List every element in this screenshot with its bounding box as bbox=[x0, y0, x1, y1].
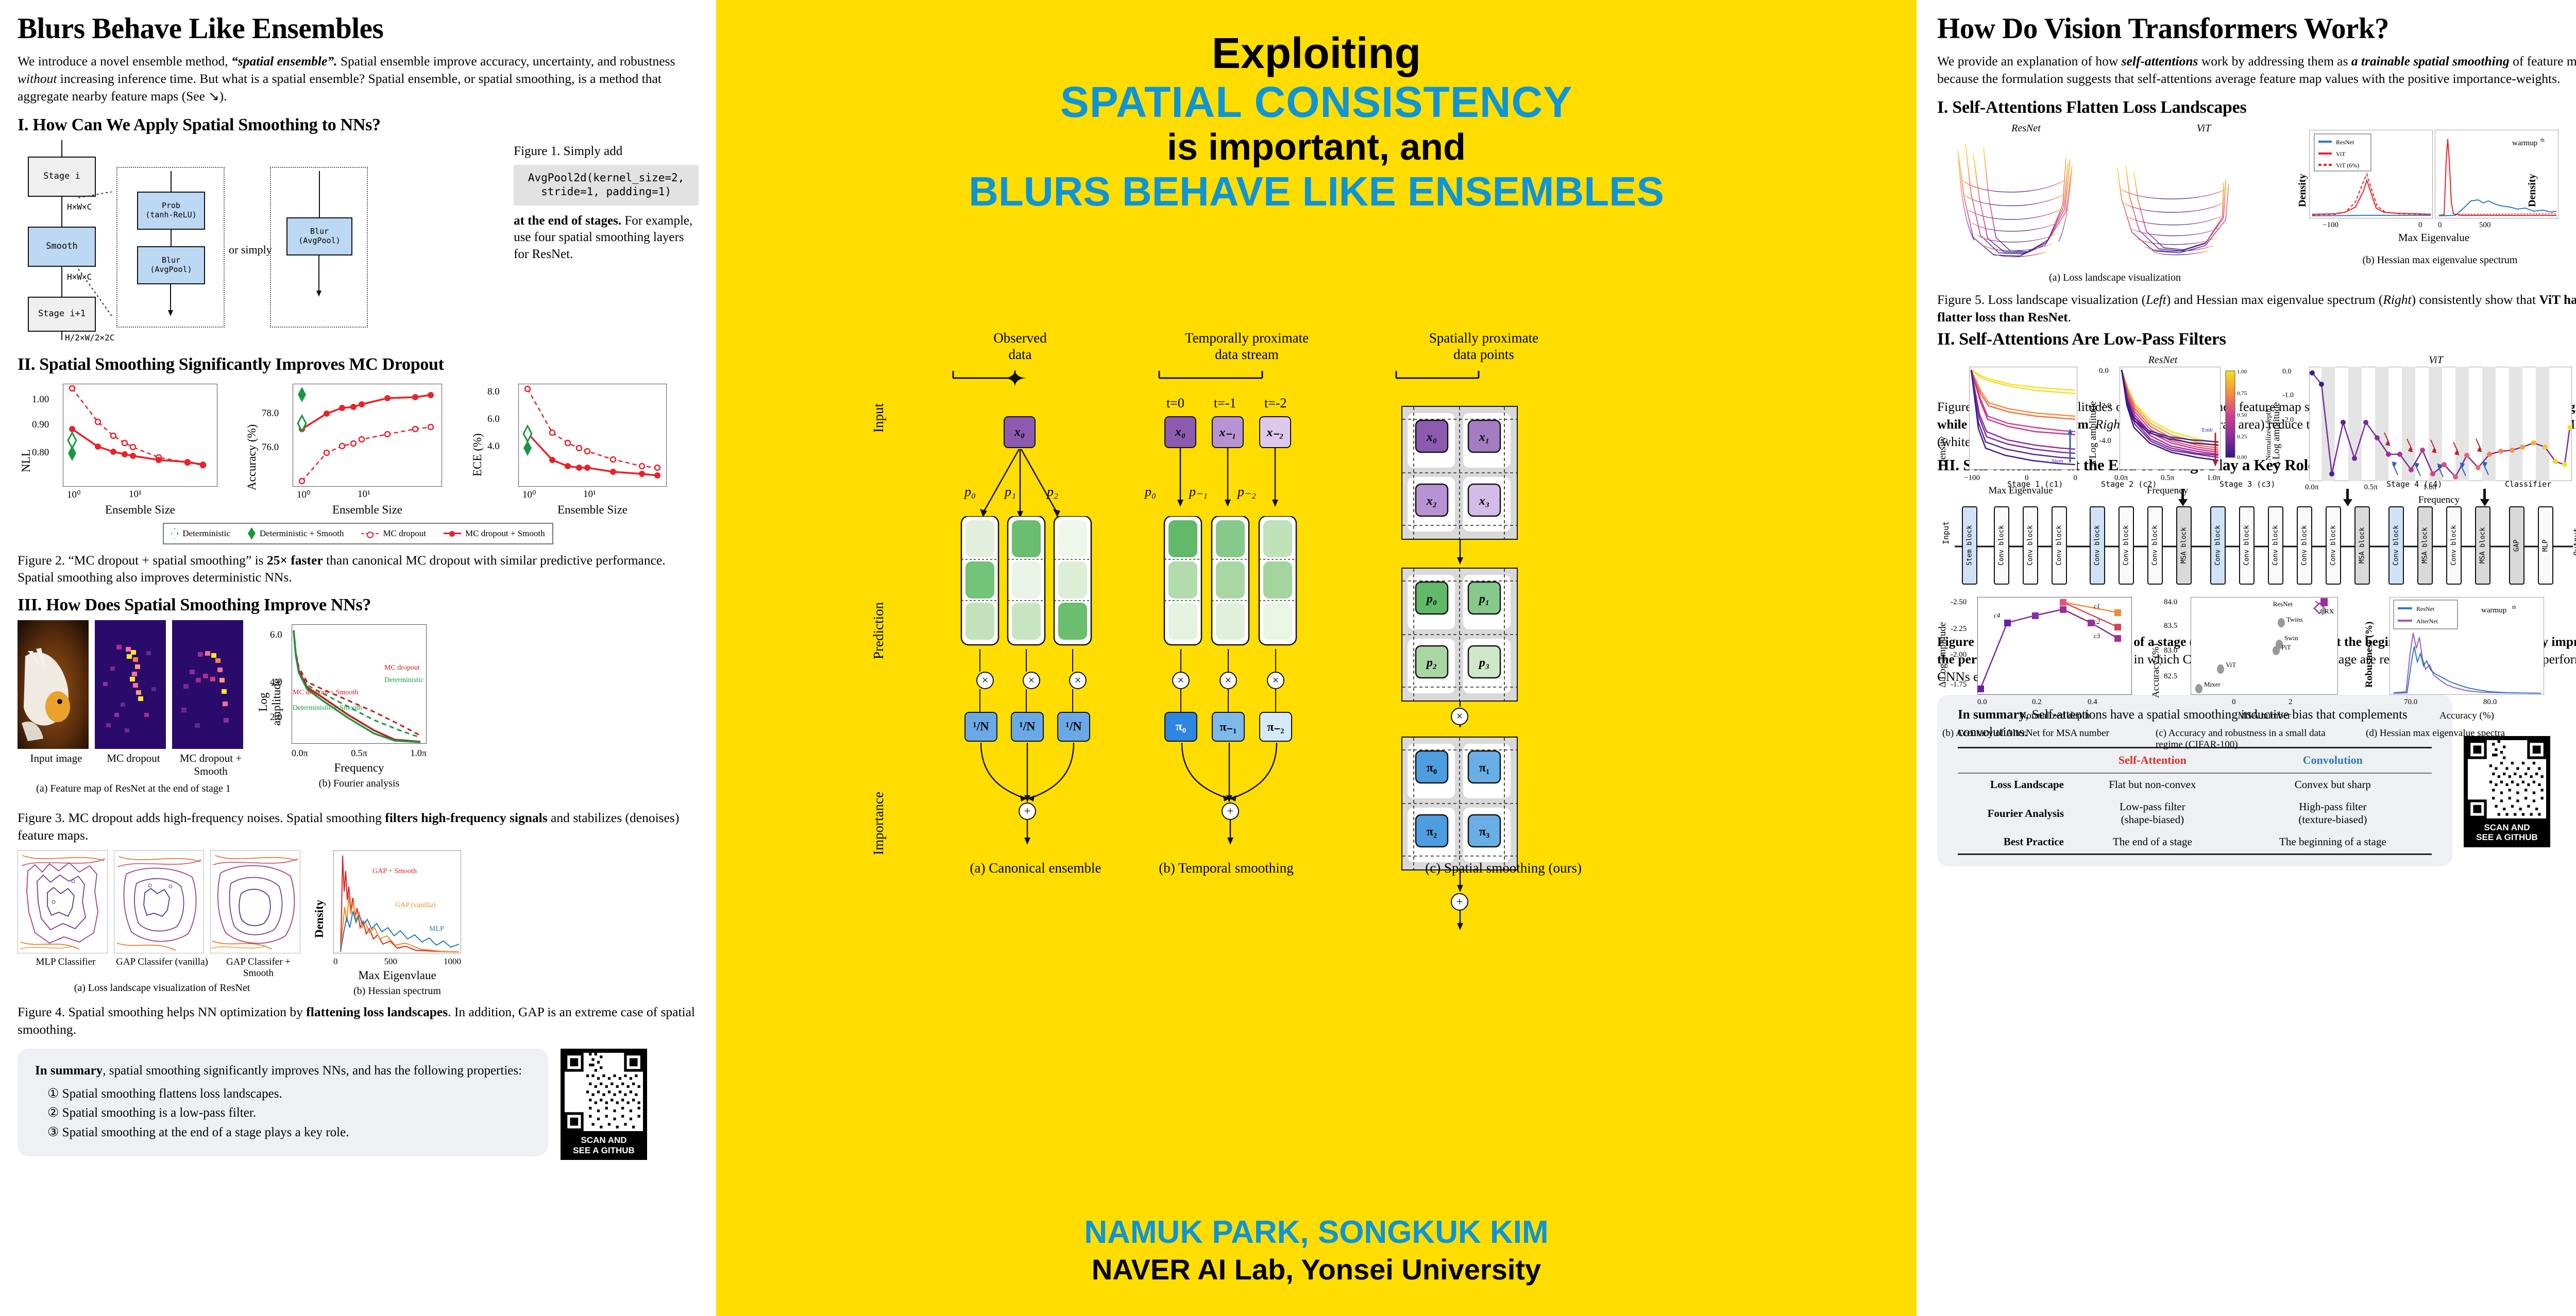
sum-arrows-b bbox=[1162, 741, 1317, 823]
arch-block-conv: Conv block bbox=[2239, 506, 2255, 585]
qr-caption-left: SCAN AND SEE A GITHUB bbox=[565, 1134, 643, 1158]
chart-fourier-ytick-2: 6.0 bbox=[270, 629, 282, 641]
node-prob: Prob(tanh-ReLU) bbox=[137, 192, 205, 230]
fig7d-ylabel: Robustness (%) bbox=[2364, 622, 2375, 688]
chart-nll-ylabel: NLL bbox=[20, 449, 33, 472]
right-intro-em1: self-attentions bbox=[2122, 54, 2198, 69]
fourier-xtick-1: 0.5π bbox=[351, 748, 367, 759]
fig7c-xlabel: MSA number bbox=[2191, 710, 2338, 722]
table-row: Best Practice The end of a stage The beg… bbox=[1958, 831, 2432, 854]
fig5-ylabel-left: Density bbox=[2297, 174, 2309, 207]
svg-text:x₂: x₂ bbox=[1426, 494, 1437, 508]
architecture-diagram: Stage 1 (c1) Stage 2 (c2) Stage 3 (c3) S… bbox=[1937, 480, 2576, 598]
title-line-2: SPATIAL CONSISTENCY bbox=[716, 78, 1917, 127]
importance-a1: ¹/N bbox=[1011, 712, 1044, 742]
chart-hessian-canvas: GAP + Smooth GAP (vanilla) MLP bbox=[333, 850, 461, 953]
spatial-grid-prediction: p₀p₁ p₂p₃ bbox=[1401, 568, 1518, 702]
left-summary-box: In summary, spatial smoothing significan… bbox=[18, 1049, 548, 1156]
poster-main-title: Exploiting SPATIAL CONSISTENCY is import… bbox=[716, 0, 1917, 215]
figure-5-caption-a: (a) Loss landscape visualization bbox=[1937, 272, 2293, 284]
arch-down-arrows bbox=[1937, 489, 2555, 507]
svg-text:p₂: p₂ bbox=[1426, 656, 1437, 670]
arch-block-msa: MSA block bbox=[2176, 506, 2192, 585]
chart-acc-xtick-0: 10⁰ bbox=[297, 489, 311, 501]
figure-3-subcaptions: Input image MC dropout MC dropout + Smoo… bbox=[18, 752, 249, 778]
svg-text:warmup: warmup bbox=[2512, 139, 2537, 147]
chart-hessian-xlabel: Max Eigenvlaue bbox=[333, 969, 461, 982]
importance-bm1: π₋₁ bbox=[1212, 712, 1245, 742]
chart-ece-ytick-2: 8.0 bbox=[487, 386, 500, 398]
expand-lines bbox=[78, 192, 114, 320]
fig5-xticks: −100 0 0 500 bbox=[2309, 221, 2558, 231]
chart-fig6-depth: ViT Δ Log amplitude 0.0 -1.0 -2.0 bbox=[2271, 354, 2576, 366]
table-cell-2-2: The beginning of a stage bbox=[2234, 831, 2432, 854]
output-arrow-a bbox=[1020, 820, 1036, 851]
arch-block-conv: Conv block bbox=[2297, 506, 2312, 585]
fig7b-xt2: 0.4 bbox=[2088, 698, 2097, 707]
arch-block-gap: GAP bbox=[2509, 506, 2524, 585]
svg-text:π₁: π₁ bbox=[1479, 761, 1489, 775]
left-panel-title: Blurs Behave Like Ensembles bbox=[18, 13, 699, 44]
chart-ece-canvas bbox=[518, 384, 667, 487]
table-row-label-1: Fourier Analysis bbox=[1958, 796, 2071, 831]
chart-ece-xtick-0: 10⁰ bbox=[522, 489, 536, 501]
comparison-table: Self-Attention Convolution Loss Landscap… bbox=[1958, 747, 2432, 854]
row-label-input: Input bbox=[871, 403, 887, 433]
list-item: ② Spatial smoothing is a low-pass filter… bbox=[47, 1104, 531, 1122]
left-section-3-heading: III. How Does Spatial Smoothing Improve … bbox=[18, 595, 699, 615]
author-affiliation: NAVER AI Lab, Yonsei University bbox=[716, 1252, 1917, 1287]
diagram-caption-c: (c) Spatial smoothing (ours) bbox=[1345, 860, 1582, 876]
fig5-right-canvas: warmup th bbox=[2435, 130, 2558, 218]
fig7d-xlabel: Accuracy (%) bbox=[2389, 710, 2544, 722]
chart-fig6-vit: ResNet Δ Log amplitude 0.0 -2.0 -4.0 bbox=[2088, 354, 2268, 366]
figure-4-caption: Figure 4. Spatial smoothing helps NN opt… bbox=[18, 1003, 699, 1038]
fig3-subcap-2: MC dropout + Smooth bbox=[172, 752, 249, 778]
table-header-convolution: Convolution bbox=[2234, 748, 2432, 773]
loss-landscape-surfaces bbox=[1937, 134, 2293, 268]
feature-map-mc-dropout-smooth bbox=[172, 620, 243, 749]
table-header-self-attention: Self-Attention bbox=[2071, 748, 2234, 773]
plus-symbol-c: + bbox=[1451, 893, 1468, 911]
arch-block-stem: Stem block bbox=[1962, 506, 1977, 585]
col-head-spatial: Spatially proximate data points bbox=[1381, 330, 1587, 363]
figure-7-caption-d: (d) Hessian max eigenvalue spectra bbox=[2366, 728, 2569, 739]
svg-text:AlterNet: AlterNet bbox=[2416, 618, 2438, 625]
chart-fourier-xticks: 0.0π 0.5π 1.0π bbox=[292, 748, 427, 759]
svg-text:warmup: warmup bbox=[2481, 606, 2506, 614]
svg-text:Twins: Twins bbox=[2286, 616, 2303, 623]
right-section-2-heading: II. Self-Attentions Are Low-Pass Filters bbox=[1937, 330, 2576, 349]
fig7d-xt1: 80.0 bbox=[2483, 698, 2497, 707]
qr-line-1: SCAN AND bbox=[565, 1135, 643, 1146]
svg-text:ViT: ViT bbox=[2336, 150, 2346, 158]
figure-4: MLP Classifier GAP Classifer (vanilla) G… bbox=[18, 850, 699, 994]
fig6-resnet-canvas: Stem bbox=[1969, 367, 2077, 470]
chart-acc-xtick-1: 10¹ bbox=[358, 489, 370, 500]
spatial-grid-importance-svg: π₀π₁ π₂π₃ bbox=[1402, 738, 1517, 869]
weight-p1-a: p₁ bbox=[1005, 484, 1016, 500]
figure-2-plots: NLL 0.80 0.90 1.00 bbox=[18, 380, 699, 519]
qr-code-block-left[interactable]: SCAN AND SEE A GITHUB bbox=[561, 1049, 647, 1160]
arch-block-conv: Conv block bbox=[2119, 506, 2134, 585]
arch-block-conv: Conv block bbox=[2023, 506, 2038, 585]
weight-p0-a: p₀ bbox=[964, 484, 976, 500]
solid-line-icon bbox=[444, 533, 461, 534]
left-column: Blurs Behave Like Ensembles We introduce… bbox=[0, 0, 716, 1316]
figure-4-subcaptions: MLP Classifier GAP Classifer (vanilla) G… bbox=[18, 956, 307, 979]
fourier-xtick-2: 1.0π bbox=[410, 748, 427, 759]
fourier-xtick-0: 0.0π bbox=[292, 748, 308, 759]
svg-text:Emb: Emb bbox=[2202, 427, 2213, 433]
svg-text:ResNet: ResNet bbox=[2416, 605, 2435, 612]
arrow-down-2 bbox=[314, 255, 325, 302]
table-cell-2-1: The end of a stage bbox=[2071, 831, 2234, 854]
svg-text:PiT: PiT bbox=[2281, 643, 2291, 651]
svg-text:RX: RX bbox=[2325, 607, 2334, 615]
chart-fourier-ytick-1: 4.0 bbox=[270, 677, 282, 688]
center-column: Exploiting SPATIAL CONSISTENCY is import… bbox=[716, 0, 1917, 1316]
plus-symbol-a: + bbox=[1019, 802, 1036, 820]
chart-fourier-ytick-0: 2.0 bbox=[270, 712, 282, 723]
figure-3-caption-a: (a) Feature map of ResNet at the end of … bbox=[18, 783, 249, 795]
title-line-1: Exploiting bbox=[716, 29, 1917, 78]
chart-acc-ytick-1: 78.0 bbox=[262, 408, 279, 419]
fig5-xlabel: Max Eigenvalue bbox=[2309, 231, 2558, 244]
svg-text:Alter-ResNet: Alter-ResNet bbox=[2240, 597, 2275, 599]
hess-xtick-0: 0 bbox=[333, 956, 338, 967]
author-names: NAMUK PARK, SONGKUK KIM bbox=[716, 1213, 1917, 1252]
fig5-left-canvas: ResNet ViT ViT (6%) bbox=[2309, 130, 2433, 218]
left-section-2-heading: II. Spatial Smoothing Significantly Impr… bbox=[18, 355, 699, 374]
fig6-title-depth: ViT bbox=[2292, 354, 2576, 366]
diagram-caption-b: (b) Temporal smoothing bbox=[1139, 860, 1314, 876]
arch-block-msa: MSA block bbox=[2417, 506, 2433, 585]
node-blur-2: Blur(AvgPool) bbox=[286, 217, 352, 255]
right-intro-2: work by addressing them as bbox=[2198, 54, 2351, 69]
author-block: NAMUK PARK, SONGKUK KIM NAVER AI Lab, Yo… bbox=[716, 1213, 1917, 1287]
svg-text:0.50: 0.50 bbox=[2237, 412, 2247, 418]
left-summary-rest: , spatial smoothing significantly improv… bbox=[103, 1064, 522, 1078]
table-header-row: Self-Attention Convolution bbox=[1958, 748, 2432, 773]
right-intro-em2: a trainable spatial smoothing bbox=[2351, 54, 2510, 69]
diamond-open-icon bbox=[171, 528, 178, 539]
table-cell-1-2: High-pass filter (texture-biased) bbox=[2234, 796, 2432, 831]
chart-acc-ylabel: Accuracy (%) bbox=[245, 424, 259, 490]
table-row-label-2: Best Practice bbox=[1958, 831, 2071, 854]
figure-5-caption: Figure 5. Loss landscape visualization (… bbox=[1937, 291, 2576, 326]
figure-7-caption-b: (b) Accuracy of AlterNet for MSA number bbox=[1942, 728, 2138, 739]
or-simply-label: or simply bbox=[229, 243, 272, 257]
input-x0-b: x₀ bbox=[1164, 416, 1196, 448]
stage-label-3: Stage 3 (c3) bbox=[2219, 480, 2275, 489]
fig7b-xt1: 0.2 bbox=[2032, 698, 2042, 707]
weight-pm2-b: p₋₂ bbox=[1238, 484, 1256, 500]
figure-1-tail: at the end of stages. For example, use f… bbox=[514, 213, 699, 263]
right-column: How Do Vision Transformers Work? We prov… bbox=[1917, 0, 2576, 1316]
left-summary-bold: In summary bbox=[35, 1064, 103, 1078]
hess-xtick-2: 1000 bbox=[444, 956, 461, 967]
arrow-c-1 bbox=[1453, 540, 1468, 571]
svg-text:π₂: π₂ bbox=[1427, 825, 1437, 839]
svg-text:MC dropout + Smooth: MC dropout + Smooth bbox=[293, 689, 358, 696]
title-line-3: is important, and bbox=[716, 127, 1917, 168]
time-t0: t=0 bbox=[1166, 396, 1184, 411]
arch-input-label: Input bbox=[1941, 521, 1951, 544]
fig7b-yt0: -1.75 bbox=[1951, 680, 1967, 689]
loss-landscape-panels: MLP Classifier GAP Classifer (vanilla) G… bbox=[18, 850, 307, 994]
fig6d-ytick1: -1.0 bbox=[2282, 391, 2294, 400]
left-section-1-heading: I. How Can We Apply Spatial Smoothing to… bbox=[18, 115, 699, 135]
importance-a2: ¹/N bbox=[1057, 712, 1090, 742]
figure-1-text: Figure 1. Simply add AvgPool2d(kernel_si… bbox=[514, 140, 699, 263]
node-stage-i: Stage i bbox=[28, 157, 96, 197]
code-line-1: AvgPool2d(kernel_size=2, bbox=[519, 171, 693, 185]
arrow-down-1 bbox=[166, 284, 176, 320]
legend-label-3: MC dropout + Smooth bbox=[465, 528, 545, 539]
legend-label-2: MC dropout bbox=[383, 528, 426, 539]
weight-pm1-b: p₋₁ bbox=[1189, 484, 1208, 500]
chart-ece-ylabel: ECE (%) bbox=[471, 433, 484, 476]
table-row-label-0: Loss Landscape bbox=[1958, 773, 2071, 796]
svg-text:π₃: π₃ bbox=[1479, 825, 1489, 839]
node-blur-1: Blur(AvgPool) bbox=[137, 246, 205, 284]
fig6v-ytick0: 0.0 bbox=[2099, 367, 2109, 375]
fig7b-canvas: c1c2c3c4 bbox=[1977, 597, 2132, 695]
braces bbox=[922, 367, 1643, 392]
arch-output-label: Output bbox=[2572, 528, 2576, 556]
left-intro-3: increasing inference time. But what is a… bbox=[18, 71, 662, 104]
chart-nll-ytick-2: 1.00 bbox=[32, 394, 49, 405]
fig7c-xt1: 2 bbox=[2289, 698, 2293, 707]
prediction-bars-b bbox=[1162, 516, 1317, 650]
chart-nll: NLL 0.80 0.90 1.00 bbox=[18, 380, 238, 519]
figure-7-caption-c: (c) Accuracy and robustness in a small d… bbox=[2156, 728, 2351, 750]
fig6v-ytick1: -2.0 bbox=[2099, 402, 2111, 411]
svg-text:th: th bbox=[2540, 138, 2545, 143]
arch-block-msa: MSA block bbox=[2475, 506, 2490, 585]
plus-symbol-b: + bbox=[1222, 802, 1239, 820]
arrows-b bbox=[1164, 448, 1319, 515]
fig7b-xlabel: Normalized depth bbox=[1977, 710, 2132, 722]
arch-block-conv: Conv block bbox=[2147, 506, 2163, 585]
svg-text:th: th bbox=[2512, 605, 2516, 610]
qr-caption-right: SCAN AND SEE A GITHUB bbox=[2468, 821, 2546, 845]
svg-text:MLP: MLP bbox=[429, 925, 444, 933]
qr-code-icon[interactable] bbox=[2468, 740, 2546, 818]
legend-item-deterministic: Deterministic bbox=[171, 528, 230, 539]
svg-text:Swin: Swin bbox=[2284, 634, 2298, 642]
chart-ece-xlabel: Ensemble Size bbox=[518, 503, 667, 517]
left-intro-emph2: without bbox=[18, 71, 57, 86]
qr-code-icon[interactable] bbox=[565, 1053, 643, 1131]
poster-root: Blurs Behave Like Ensembles We introduce… bbox=[0, 0, 2576, 1316]
legend-label-1: Deterministic + Smooth bbox=[260, 528, 344, 539]
input-image bbox=[18, 620, 89, 749]
stage-label-4: Stage 4 (c4) bbox=[2386, 480, 2442, 489]
col-head-temporal: Temporally proximate data stream bbox=[1133, 330, 1360, 363]
chart-ece-xtick-1: 10¹ bbox=[583, 489, 596, 500]
legend-label-0: Deterministic bbox=[182, 528, 230, 539]
arch-block-conv: Conv block bbox=[2446, 506, 2462, 585]
figure-3-caption: Figure 3. MC dropout adds high-frequency… bbox=[18, 809, 699, 844]
fig5-label-resnet: ResNet bbox=[1937, 123, 2115, 134]
left-intro-emph: “spatial ensemble”. bbox=[231, 54, 337, 69]
fig7b-yt1: -2.00 bbox=[1951, 651, 1967, 659]
svg-text:c1: c1 bbox=[2094, 602, 2100, 610]
fig7c-yt1: 83.0 bbox=[2164, 646, 2177, 655]
svg-text:c2: c2 bbox=[2094, 618, 2100, 625]
qr-line-1: SCAN AND bbox=[2468, 823, 2546, 833]
legend-item-deterministic-smooth: Deterministic + Smooth bbox=[248, 527, 344, 540]
stage-label-2: Stage 2 (c2) bbox=[2101, 480, 2157, 489]
chart-nll-xtick-1: 10¹ bbox=[129, 489, 142, 500]
chart-fig5-hessian: Density ResNet ViT ViT (6%) bbox=[2296, 123, 2576, 266]
left-intro-paragraph: We introduce a novel ensemble method, “s… bbox=[18, 53, 699, 105]
svg-text:0.75: 0.75 bbox=[2237, 390, 2247, 397]
fig7c-xt0: 0 bbox=[2232, 698, 2236, 707]
table-row: Loss Landscape Flat but non-convex Conve… bbox=[1958, 773, 2432, 796]
input-x0-a: x₀ bbox=[1004, 416, 1036, 448]
fig7c-canvas: Alter-ResNet ResNet RX Twins Swin PiT Vi… bbox=[2191, 597, 2338, 695]
svg-text:0.00: 0.00 bbox=[2237, 454, 2247, 460]
figure-1-head: Figure 1. Simply add bbox=[514, 143, 699, 160]
qr-code-block-right[interactable]: SCAN AND SEE A GITHUB bbox=[2464, 736, 2550, 847]
fig3-subcap-1: MC dropout bbox=[95, 752, 172, 778]
svg-text:0.25: 0.25 bbox=[2237, 434, 2247, 440]
fig3-subcap-0: Input image bbox=[18, 752, 95, 778]
output-arrow-c bbox=[1453, 911, 1468, 934]
svg-text:GAP (vanilla): GAP (vanilla) bbox=[395, 901, 436, 909]
svg-text:c3: c3 bbox=[2094, 632, 2100, 640]
loss-landscape-gap-smooth bbox=[210, 850, 300, 953]
figure-6: Density bbox=[1937, 354, 2576, 366]
arch-block-conv: Conv block bbox=[1994, 506, 2009, 585]
chart-ece-ytick-0: 4.0 bbox=[487, 441, 500, 452]
fig7b-ylabel: Δ Log amplitude bbox=[1937, 622, 1948, 688]
svg-text:ResNet: ResNet bbox=[2273, 600, 2293, 608]
figure-4-caption-b: (b) Hessian spectrum bbox=[333, 985, 461, 997]
time-tm2: t=-2 bbox=[1264, 396, 1287, 411]
fig7d-canvas: ResNet AlterNet warmup th bbox=[2389, 597, 2544, 695]
loss-landscape-3d: ResNet ViT bbox=[1937, 123, 2293, 284]
fig6d-ytick2: -2.0 bbox=[2282, 416, 2294, 424]
fig7c-yt2: 83.5 bbox=[2164, 622, 2177, 630]
fig7b-xt0: 0.0 bbox=[1977, 698, 1987, 707]
fig6d-ytick0: 0.0 bbox=[2282, 368, 2292, 376]
chart-ece: ECE (%) 4.0 6.0 8.0 bbox=[469, 380, 689, 519]
table-cell-0-1: Flat but non-convex bbox=[2071, 773, 2234, 796]
fig7c-ylabel: Accuracy (%) bbox=[2150, 643, 2162, 698]
chart-acc-ytick-0: 76.0 bbox=[262, 442, 279, 453]
arch-block-conv: Conv block bbox=[2090, 506, 2105, 585]
spatial-grid-input: x₀x₁ x₂x₃ bbox=[1401, 406, 1518, 540]
fig4-subcap-0: MLP Classifier bbox=[18, 956, 114, 979]
right-intro-1: We provide an explanation of how bbox=[1937, 54, 2122, 69]
fig6-vit-canvas: Emb bbox=[2120, 367, 2221, 470]
feature-map-mc-dropout bbox=[95, 620, 166, 749]
chart-acc-xlabel: Ensemble Size bbox=[293, 503, 442, 517]
fig6-title-vit: ResNet bbox=[2058, 354, 2268, 366]
ensemble-diagram: Input Prediction Importance Observed dat… bbox=[716, 330, 1917, 1010]
input-xm2-b: x₋₂ bbox=[1259, 416, 1291, 448]
figure-1: Stage i H×W×C Smooth H×W×C Stage i+1 H/2… bbox=[18, 140, 699, 344]
table-header-0 bbox=[1958, 748, 2071, 773]
chart-accuracy: Accuracy (%) 76.0 78.0 bbox=[243, 380, 464, 519]
list-item: ① Spatial smoothing flattens loss landsc… bbox=[47, 1085, 531, 1103]
fig6-ylabel-resnet: Density bbox=[1937, 436, 1948, 467]
chart-nll-ytick-1: 0.90 bbox=[32, 419, 49, 431]
svg-text:p₀: p₀ bbox=[1426, 592, 1437, 606]
arch-block-conv: Conv block bbox=[2388, 506, 2404, 585]
right-intro-paragraph: We provide an explanation of how self-at… bbox=[1937, 53, 2576, 88]
dim-label-3: H/2×W/2×2C bbox=[65, 333, 114, 343]
svg-text:Deterministic: Deterministic bbox=[384, 676, 423, 684]
chart-fourier-canvas: MC dropout Deterministic MC dropout + Sm… bbox=[292, 624, 427, 744]
svg-text:Stem: Stem bbox=[2052, 458, 2063, 464]
arch-block-conv: Conv block bbox=[2326, 506, 2341, 585]
svg-text:π₀: π₀ bbox=[1427, 761, 1437, 775]
table-cell-0-2: Convex but sharp bbox=[2234, 773, 2432, 796]
arch-block-conv: Conv block bbox=[2210, 506, 2226, 585]
legend-item-mc-dropout-smooth: MC dropout + Smooth bbox=[444, 528, 545, 539]
qr-line-2: SEE A GITHUB bbox=[565, 1146, 643, 1156]
title-line-4: BLURS BEHAVE LIKE ENSEMBLES bbox=[716, 168, 1917, 215]
col-head-observed: Observed data bbox=[938, 330, 1103, 363]
chart-nll-xtick-0: 10⁰ bbox=[67, 489, 81, 501]
diamond-filled-icon bbox=[248, 527, 256, 540]
figure-5-caption-b: (b) Hessian max eigenvalue spectrum bbox=[2296, 254, 2576, 266]
fig5-ylabel-right: Density bbox=[2527, 174, 2538, 207]
fig6v-ytick2: -4.0 bbox=[2099, 437, 2111, 446]
svg-text:GAP + Smooth: GAP + Smooth bbox=[372, 867, 417, 875]
figure-1-diagram: Stage i H×W×C Smooth H×W×C Stage i+1 H/2… bbox=[18, 140, 511, 344]
chart-acc-canvas bbox=[293, 384, 442, 487]
arch-block-conv: Conv block bbox=[2268, 506, 2283, 585]
loss-landscape-gap-vanilla bbox=[114, 850, 204, 953]
input-xm1-b: x₋₁ bbox=[1212, 416, 1244, 448]
fig7c-yt3: 84.0 bbox=[2164, 598, 2177, 607]
spatial-grid-importance: π₀π₁ π₂π₃ bbox=[1401, 737, 1518, 870]
chart-hessian-ylabel: Density bbox=[313, 900, 326, 938]
svg-text:Mixer: Mixer bbox=[2204, 680, 2221, 688]
spatial-grid-input-svg: x₀x₁ x₂x₃ bbox=[1402, 407, 1517, 539]
fig7b-yt3: -2.50 bbox=[1951, 598, 1967, 607]
row-label-importance: Importance bbox=[871, 792, 887, 855]
figure-5: ResNet ViT bbox=[1937, 123, 2576, 284]
fig6-ylabel-vit: Δ Log amplitude bbox=[2088, 401, 2099, 467]
diagram-caption-a: (a) Canonical ensemble bbox=[943, 860, 1128, 876]
list-item: ③ Spatial smoothing at the end of a stag… bbox=[47, 1124, 531, 1142]
chart-nll-xlabel: Ensemble Size bbox=[63, 503, 217, 517]
svg-text:ResNet: ResNet bbox=[2336, 139, 2354, 146]
chart-ece-ytick-1: 6.0 bbox=[487, 414, 500, 425]
left-summary-row: In summary, spatial smoothing significan… bbox=[18, 1049, 699, 1160]
fig6d-ylabel: Δ Log amplitude bbox=[2271, 402, 2282, 468]
svg-text:x₀: x₀ bbox=[1426, 431, 1437, 444]
weight-p0-b: p₀ bbox=[1145, 484, 1156, 500]
left-intro-2: Spatial ensemble improve accuracy, uncer… bbox=[337, 54, 675, 69]
fig7c-yt0: 82.5 bbox=[2164, 672, 2177, 681]
arch-block-mlp: MLP bbox=[2538, 506, 2553, 585]
dashed-line-icon bbox=[361, 533, 379, 534]
stage-label-classifier: Classifier bbox=[2505, 480, 2551, 489]
hess-xtick-1: 500 bbox=[384, 956, 398, 967]
svg-text:Deterministic + Smooth: Deterministic + Smooth bbox=[293, 704, 362, 712]
svg-text:p₃: p₃ bbox=[1478, 656, 1489, 670]
stage-label-1: Stage 1 (c1) bbox=[2007, 480, 2063, 489]
table-row: Fourier Analysis Low-pass filter (shape-… bbox=[1958, 796, 2432, 831]
